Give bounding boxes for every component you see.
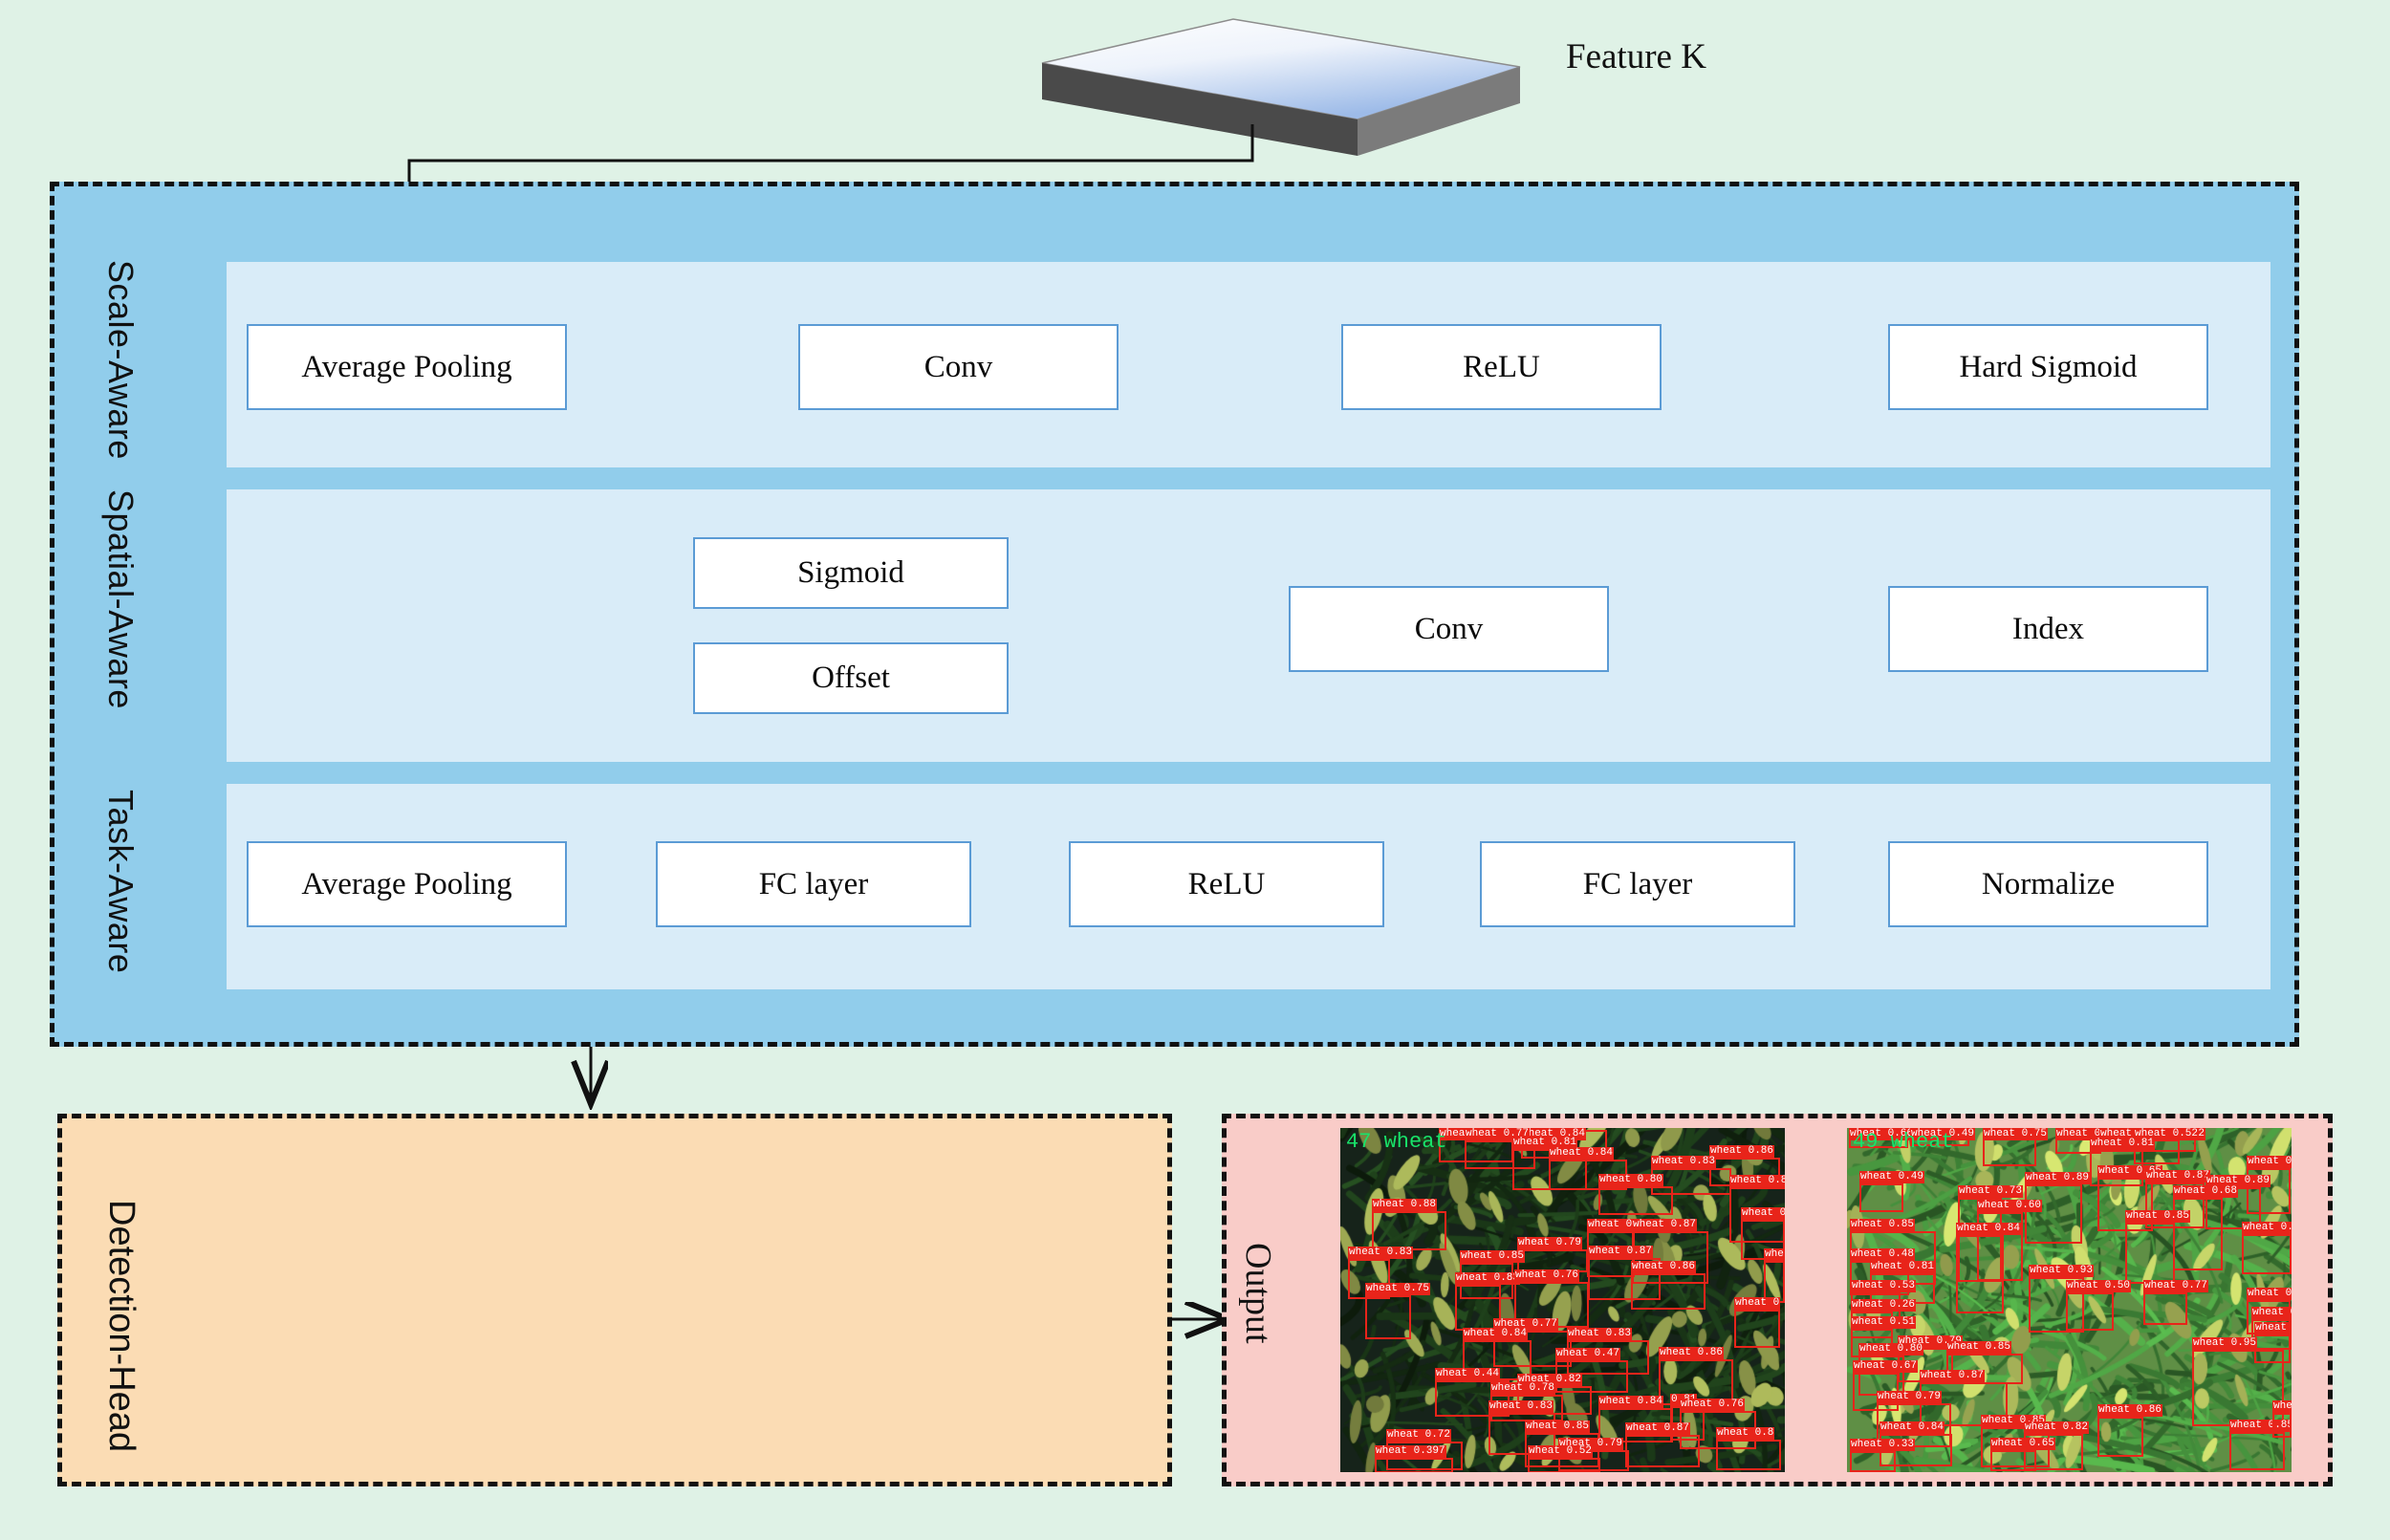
detection-bbox-label: wheat 0.83 (1455, 1272, 1520, 1285)
node-index[interactable]: Index (1888, 586, 2208, 672)
detection-bbox-label: wheat 0.78 (1490, 1382, 1555, 1395)
detection-count-2: 49 wheat (1853, 1130, 1954, 1154)
detection-bbox-label: wheat 0.48 (1850, 1248, 1915, 1261)
detection-bbox-label: wheat 0.8 (1716, 1427, 1774, 1440)
detection-bbox-label: wheat 0.85 (1946, 1341, 2011, 1354)
detection-bbox-label: wheat 0.83 (1348, 1247, 1413, 1259)
detection-bbox-label: wheat 0.86 (2097, 1404, 2162, 1417)
detection-bbox (1990, 1450, 2036, 1471)
detection-bbox-label: wheat 0.87 (2145, 1170, 2210, 1182)
detection-bbox (1716, 1440, 1781, 1470)
detection-bbox-label: wheat 0.73 (1958, 1185, 2023, 1198)
detection-bbox-label: wheat 0.80 (1598, 1174, 1663, 1186)
detection-bbox-label: wheat 0.397 (1375, 1445, 1446, 1458)
detection-bbox-label: wheat 0. (2247, 1288, 2292, 1300)
node-average-pooling-scale[interactable]: Average Pooling (247, 324, 567, 410)
detection-bbox (1734, 1310, 1780, 1348)
detection-bbox-label: wheat 0.83 (1488, 1400, 1553, 1413)
node-relu-scale[interactable]: ReLU (1341, 324, 1662, 410)
detection-bbox (2173, 1198, 2223, 1270)
scale-aware-label: Scale-Aware (100, 260, 141, 460)
detection-bbox-label: wheat 0.82 (2024, 1421, 2089, 1434)
detection-bbox-label: wheat 0.81 (1870, 1261, 1935, 1273)
node-average-pooling-task[interactable]: Average Pooling (247, 841, 567, 927)
spatial-aware-label: Spatial-Aware (100, 489, 141, 709)
detection-bbox (1850, 1451, 1896, 1472)
detection-bbox-label: wheat 0.84 (1598, 1396, 1663, 1408)
detection-bbox-label: wheat 0.47 (1555, 1348, 1620, 1360)
detection-bbox-label: wheat 0.26 (1851, 1299, 1916, 1312)
detection-bbox-label: wheat 0.93 (2029, 1265, 2094, 1277)
detection-bbox (2143, 1292, 2187, 1325)
detection-bbox-label: wheat 0.83 (1651, 1156, 1716, 1168)
node-relu-task[interactable]: ReLU (1069, 841, 1384, 927)
detection-bbox (2242, 1234, 2292, 1274)
detection-bbox-label: wheat 0.79 (1517, 1237, 1582, 1249)
detection-bbox (1859, 1183, 1903, 1212)
detection-bbox-label: wheat 0 (1734, 1297, 1780, 1310)
detection-bbox-label: wheat 0.86 (1631, 1261, 1696, 1273)
node-hard-sigmoid[interactable]: Hard Sigmoid (1888, 324, 2208, 410)
detection-bbox-label: wheat 0.76 (1514, 1269, 1579, 1282)
detection-bbox (1365, 1295, 1411, 1339)
detection-bbox-label: wheat 0.88 (1372, 1199, 1437, 1211)
detection-bbox (1631, 1273, 1706, 1310)
feature-slab-icon (1042, 19, 1520, 156)
detection-bbox-label: whe (1764, 1248, 1785, 1261)
detection-bbox-label: wheat 0. (1741, 1207, 1785, 1220)
detection-bbox (2025, 1184, 2082, 1244)
detection-bbox-label: wheat 0.84 (1956, 1223, 2021, 1235)
detection-bbox-label: wheat 0.51 (1851, 1316, 1916, 1329)
detection-bbox-label: wheat 0.60 (1977, 1200, 2042, 1212)
detection-bbox-label: wheat 0. (2247, 1156, 2292, 1168)
detection-bbox (1598, 1186, 1673, 1215)
node-fc-layer-2[interactable]: FC layer (1480, 841, 1795, 927)
detection-result-image-2: 49 wheat wheat 0.66wheat 0.49wheat 0.75w… (1847, 1128, 2292, 1472)
detection-bbox-label: wheat 0.95 (2192, 1337, 2257, 1350)
detection-bbox (2125, 1223, 2175, 1284)
detection-bbox-label: wheat 0.33 (1850, 1439, 1915, 1451)
detection-head-panel (57, 1114, 1172, 1486)
detection-bbox-label: wheat 0.86 (1709, 1145, 1774, 1158)
detection-bbox-label: wheat 0.87 (1625, 1422, 1690, 1435)
detection-bbox-label: wheat 0.84 (1549, 1147, 1614, 1160)
detection-result-image-1: 47 wheat wheat 0.89wheat 0.84wheat 0.77w… (1340, 1128, 1785, 1472)
detection-bbox-label: wheat 0.50 (2066, 1280, 2131, 1292)
detection-head-label: Detection-Head (100, 1200, 141, 1452)
detection-bbox-label: wheat 0.91 (2242, 1222, 2292, 1234)
detection-bbox (1956, 1235, 2004, 1313)
detection-bbox-label: wheat 0.44 (1435, 1368, 1500, 1380)
detection-bbox-label: wheat 0.81 (2090, 1138, 2155, 1150)
detection-bbox-label: wheat 0.52 (1528, 1445, 1593, 1458)
detection-bbox-label: wheat 0.85 (1525, 1421, 1590, 1433)
node-conv-scale[interactable]: Conv (798, 324, 1119, 410)
detection-bbox-label: wheat 0.76 (1680, 1399, 1745, 1411)
detection-bbox-label: wheat 0.65 (1990, 1438, 2055, 1450)
detection-bbox-label: wheat 0.72 (1386, 1429, 1451, 1442)
detection-bbox-label: wheat 0.89 (2025, 1172, 2090, 1184)
detection-bbox-label: wheat 0.75 (1365, 1283, 1430, 1295)
node-fc-layer-1[interactable]: FC layer (656, 841, 971, 927)
output-label: Output (1237, 1243, 1279, 1344)
detection-bbox (2066, 1292, 2114, 1331)
node-sigmoid[interactable]: Sigmoid (693, 537, 1009, 609)
detection-bbox (1375, 1458, 1453, 1472)
detection-bbox-label: wheat 0.86 (1659, 1347, 1724, 1359)
task-aware-label: Task-Aware (100, 790, 141, 973)
detection-bbox-label: wheat 0.49 (1859, 1171, 1924, 1183)
detection-bbox-label: wheat 0. (2272, 1400, 2292, 1413)
detection-bbox-label: wheat 0.77 (2143, 1280, 2208, 1292)
detection-bbox-label: wheat 0. (2251, 1307, 2292, 1319)
detection-bbox (2097, 1417, 2143, 1457)
detection-count-1: 47 wheat (1346, 1130, 1447, 1154)
node-normalize[interactable]: Normalize (1888, 841, 2208, 927)
node-conv-spatial[interactable]: Conv (1289, 586, 1609, 672)
detection-bbox-label: wheat 0.87 (1920, 1370, 1985, 1382)
detection-bbox (2192, 1350, 2284, 1426)
detection-bbox (1625, 1435, 1700, 1467)
detection-bbox (1528, 1458, 1600, 1472)
detection-bbox-label: wheat 0.83 (1567, 1328, 1632, 1340)
detection-bbox-label: wheat 0.79 (1877, 1391, 1942, 1403)
detection-bbox-label: wheat 0.84 (1463, 1328, 1528, 1340)
node-offset[interactable]: Offset (693, 642, 1009, 714)
feature-k-label: Feature K (1566, 36, 1706, 77)
detection-bbox (1372, 1211, 1446, 1250)
detection-bbox-label: wheat 0.85 (1460, 1250, 1525, 1263)
detection-bbox-label: wheat 0.53 (1851, 1280, 1916, 1292)
detection-bbox (2272, 1413, 2292, 1438)
detection-bbox-label: wheat 0.87 (1588, 1246, 1653, 1258)
detection-bbox-label: wheat 0.68 (2173, 1185, 2238, 1198)
detection-bbox (2229, 1432, 2285, 1470)
detection-bbox-label: wheat 0.75 (1983, 1128, 2048, 1140)
detection-bbox-label: wheat 0.84 (1879, 1421, 1945, 1434)
detection-bbox-label: wheat 0.85 (1850, 1219, 1915, 1231)
detection-bbox-label: wheat 0.80 (1858, 1343, 1923, 1356)
detection-bbox-label: wheat 0.67 (1853, 1360, 1918, 1373)
detection-bbox-label: wheat 0.87 (1632, 1219, 1697, 1231)
diagram-canvas: Feature K Scale-Aware Spatial-Aware Task… (0, 0, 2390, 1540)
detection-bbox-label: wheat 0.85 (2125, 1210, 2190, 1223)
detection-bbox-label: wheat 0.8 (1729, 1175, 1785, 1187)
detection-bbox-label: wheat 0. (2254, 1322, 2292, 1334)
